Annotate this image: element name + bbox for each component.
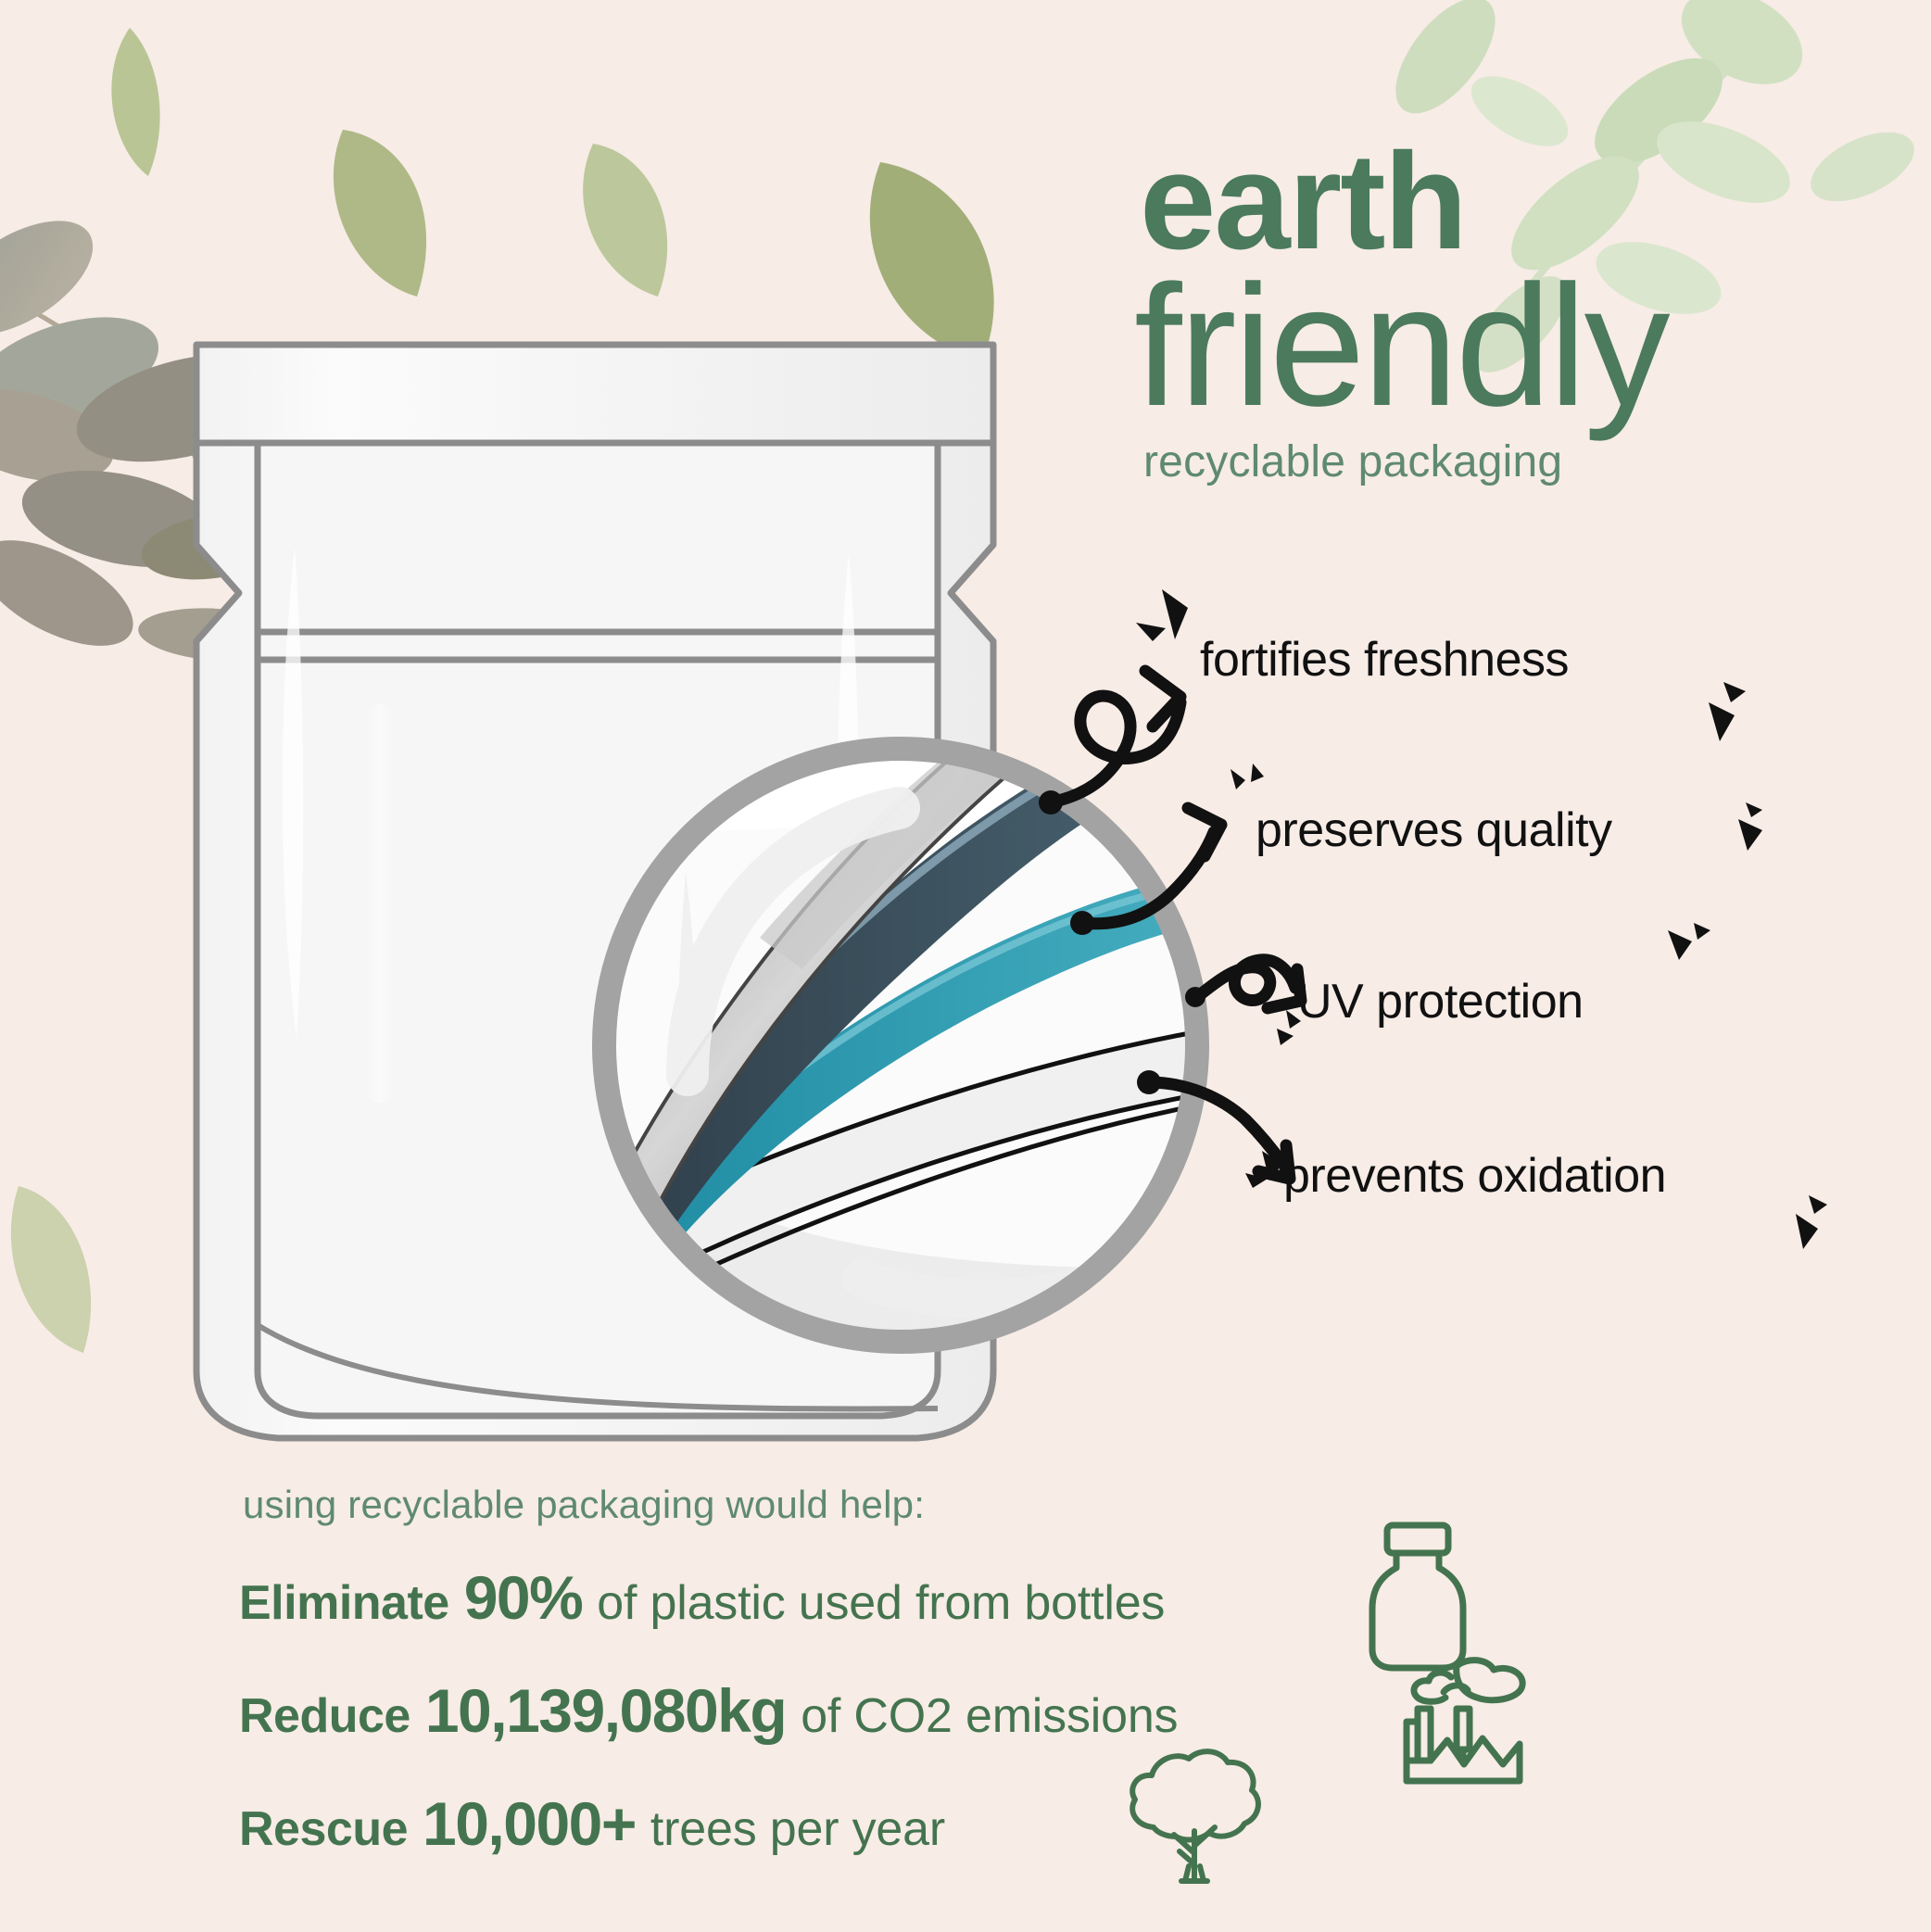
headline-line-1: earth <box>1140 139 1899 265</box>
stat-value: 90% <box>464 1562 583 1633</box>
feature-label-prevents-oxidation: prevents oxidation <box>1283 1148 1666 1204</box>
stat-value: 10,139,080kg <box>425 1675 786 1746</box>
stat-tail: of CO2 emissions <box>801 1688 1178 1744</box>
stat-verb: Reduce <box>239 1688 410 1744</box>
arrow-head-2 <box>1188 808 1221 856</box>
tree-icon <box>1117 1742 1274 1890</box>
stat-verb: Eliminate <box>239 1575 449 1631</box>
feature-label-fortifies-freshness: fortifies freshness <box>1200 632 1569 688</box>
factory-icon <box>1390 1651 1538 1790</box>
feature-label-preserves-quality: preserves quality <box>1256 802 1612 858</box>
arrow-curve-2 <box>1082 832 1214 924</box>
stat-verb: Rescue <box>239 1801 408 1857</box>
arrow-curl-3 <box>1197 960 1295 1001</box>
stat-tail: of plastic used from bottles <box>597 1575 1165 1631</box>
stat-value: 10,000+ <box>423 1788 636 1859</box>
stat-tail: trees per year <box>650 1801 945 1857</box>
headline-subtitle: recyclable packaging <box>1143 436 1899 487</box>
feature-label-uv-protection: UV protection <box>1297 974 1584 1029</box>
headline-line-2: friendly <box>1134 265 1899 429</box>
headline-block: earth friendly recyclable packaging <box>1140 139 1899 487</box>
stat-row: Rescue 10,000+ trees per year <box>239 1788 1629 1859</box>
arrow-anchor-dots <box>1039 790 1205 1094</box>
infographic-canvas: earth friendly recyclable packaging fort… <box>0 0 1931 1932</box>
